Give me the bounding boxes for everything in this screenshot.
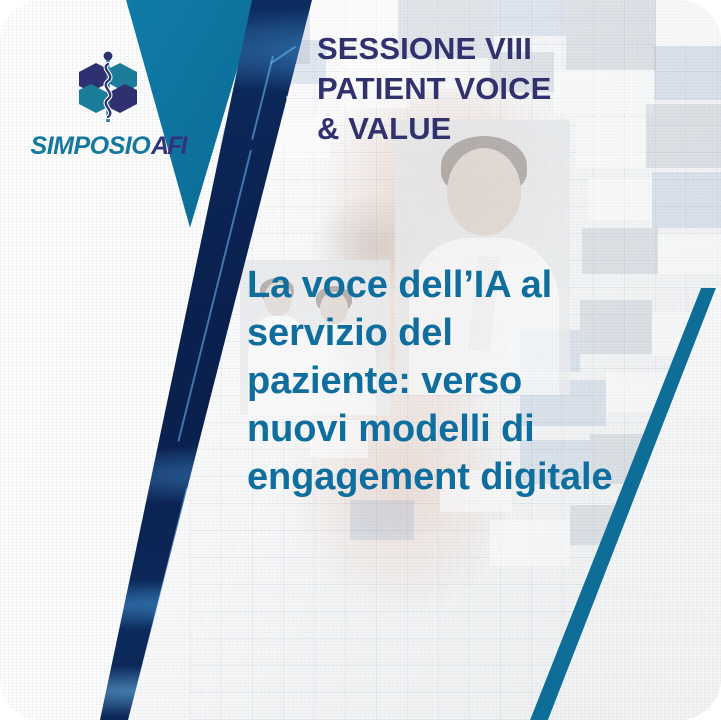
session-title-line-2: PATIENT VOICE	[317, 69, 647, 109]
heading-line-4: nuovi modelli di	[247, 405, 667, 453]
heading-line-5: engagement digitale	[247, 453, 667, 501]
caduceus-hexagon-icon	[71, 50, 145, 130]
logo[interactable]: SIMPOSIOAFI	[18, 50, 198, 159]
logo-wordmark: SIMPOSIOAFI	[18, 134, 198, 159]
session-title-line-3: & VALUE	[317, 109, 647, 149]
heading-line-3: paziente: verso	[247, 357, 667, 405]
logo-word-afi: AFI	[150, 132, 185, 160]
session-card: SIMPOSIOAFI SESSIONE VIII PATIENT VOICE …	[0, 0, 721, 720]
logo-word-simposio: SIMPOSIO	[31, 132, 151, 160]
heading-line-2: servizio del	[247, 309, 667, 357]
page-title: La voce dell’IA al servizio del paziente…	[247, 261, 667, 501]
heading-line-1: La voce dell’IA al	[247, 261, 667, 309]
session-title: SESSIONE VIII PATIENT VOICE & VALUE	[317, 29, 647, 149]
session-title-line-1: SESSIONE VIII	[317, 29, 647, 69]
